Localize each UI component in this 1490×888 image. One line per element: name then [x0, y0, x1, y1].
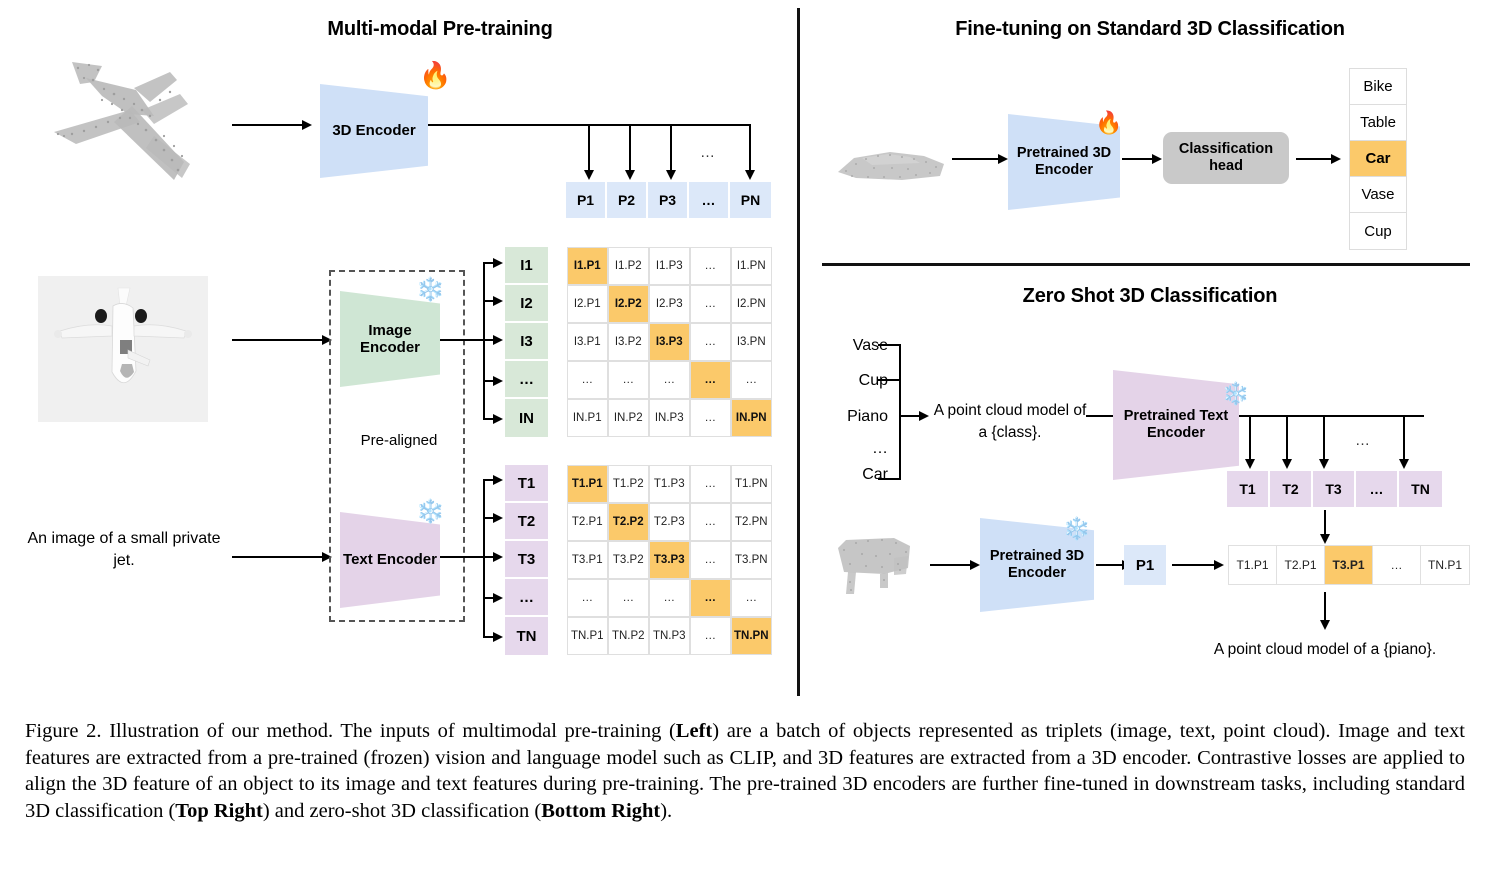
zeroshot-text-token[interactable]: T2: [1270, 471, 1313, 507]
image-token[interactable]: IN: [505, 399, 548, 437]
image-bus-stem: [440, 339, 485, 341]
similarity-cell: I2.P1: [567, 285, 609, 324]
point-token[interactable]: PN: [730, 182, 771, 218]
similarity-cell: I1.P1: [567, 247, 609, 286]
arrowhead-p1-scores: [1214, 560, 1224, 570]
arrow-p1-to-scores: [1172, 564, 1216, 566]
prompt-line-2: a {class}.: [932, 422, 1088, 444]
arrow-text-to-encoder: [232, 556, 324, 558]
similarity-cell: T3.P3: [649, 541, 691, 580]
arrow-scores-to-result: [1324, 592, 1326, 622]
similarity-cell: I3.P3: [649, 323, 691, 362]
similarity-cell: I3.P2: [608, 323, 650, 362]
encoder-image-label: Image Encoder: [340, 322, 440, 357]
arrowhead-head-classes: [1331, 154, 1341, 164]
similarity-cell: I2.P2: [608, 285, 650, 324]
similarity-cell: I3.P1: [567, 323, 609, 362]
arrowhead-p3: [666, 170, 676, 180]
airplane-point-cloud: [14, 44, 239, 204]
vertical-divider: [797, 8, 800, 696]
prompt-template-text: A point cloud model of a {class}.: [932, 400, 1088, 443]
point-token[interactable]: P2: [607, 182, 648, 218]
class-brace-spine: [899, 344, 901, 480]
similarity-cell: …: [690, 361, 732, 400]
similarity-cell: I2.PN: [731, 285, 773, 324]
similarity-cell: IN.P3: [649, 399, 691, 438]
similarity-cell: I1.PN: [731, 247, 773, 286]
similarity-cell: T2.P3: [649, 503, 691, 542]
similarity-cell: I1.P2: [608, 247, 650, 286]
similarity-cell: …: [690, 465, 732, 504]
arrow-image-to-encoder: [232, 339, 324, 341]
text-token[interactable]: T3: [505, 541, 548, 579]
similarity-cell: I2.P3: [649, 285, 691, 324]
zeroshot-class-name: Car: [836, 466, 888, 484]
arrowhead-i4: [493, 376, 503, 386]
left-panel-title: Multi-modal Pre-training: [240, 18, 640, 41]
class-item[interactable]: Table: [1350, 105, 1406, 141]
score-cell: T1.P1: [1229, 546, 1277, 584]
encoder-3d-label: 3D Encoder: [332, 122, 415, 139]
similarity-cell: T2.P1: [567, 503, 609, 542]
zeroshot-class-name: Piano: [827, 408, 888, 426]
arrowhead-scores-result: [1320, 620, 1330, 630]
classification-head[interactable]: Classification head: [1163, 132, 1289, 184]
drop-zs-t3: [1323, 415, 1325, 461]
arrowhead-t3: [493, 552, 503, 562]
snowflake-icon: ❄️: [1222, 383, 1249, 405]
class-item[interactable]: Cup: [1350, 213, 1406, 249]
arrowhead-p2: [625, 170, 635, 180]
ellipsis-zeroshot-text-bus: …: [1355, 432, 1370, 449]
arrowhead-pointcloud: [302, 120, 312, 130]
arrowhead-classes-prompt: [919, 411, 929, 421]
arrowhead-i2: [493, 296, 503, 306]
similarity-cell: T3.P1: [567, 541, 609, 580]
class-item[interactable]: Bike: [1350, 69, 1406, 105]
car-point-cloud: [832, 138, 952, 188]
similarity-cell: TN.P2: [608, 617, 650, 656]
snowflake-icon: ❄️: [416, 278, 445, 301]
drop-zs-t1: [1249, 415, 1251, 461]
arrowhead-in: [493, 414, 503, 424]
similarity-cell: …: [690, 617, 732, 656]
image-token[interactable]: I2: [505, 285, 548, 323]
similarity-cell: …: [731, 579, 773, 618]
score-cell-predicted: T3.P1: [1325, 546, 1373, 584]
similarity-cell: T3.PN: [731, 541, 773, 580]
text-token[interactable]: TN: [505, 617, 548, 655]
similarity-cell: T2.P2: [608, 503, 650, 542]
similarity-cell: …: [731, 361, 773, 400]
arrowhead-zs-t2: [1282, 459, 1292, 469]
class-brace-tick: [878, 379, 901, 381]
class-brace-tick: [878, 478, 901, 480]
similarity-cell: …: [690, 503, 732, 542]
pretrained-text-encoder[interactable]: Pretrained Text Encoder: [1113, 370, 1239, 480]
top-right-panel-title: Fine-tuning on Standard 3D Classificatio…: [900, 18, 1400, 41]
drop-zs-t2: [1286, 415, 1288, 461]
image-token[interactable]: …: [505, 361, 548, 399]
class-brace-tick: [878, 344, 901, 346]
similarity-cell: …: [690, 285, 732, 324]
similarity-cell: …: [608, 579, 650, 618]
pretrained-3d-encoder-label: Pretrained 3D Encoder: [1008, 145, 1120, 178]
score-cell: TN.P1: [1421, 546, 1469, 584]
drop-p2: [629, 124, 631, 172]
similarity-cell: …: [567, 361, 609, 400]
point-token[interactable]: P1: [566, 182, 607, 218]
image-token[interactable]: I3: [505, 323, 548, 361]
similarity-cell: …: [567, 579, 609, 618]
arrow-head-to-classes: [1296, 158, 1334, 160]
arrow-pointcloud-to-encoder: [232, 124, 304, 126]
zeroshot-point-token-label: P1: [1136, 557, 1154, 574]
similarity-cell: T1.P3: [649, 465, 691, 504]
text-token-column: T1 T2 T3 … TN: [505, 465, 548, 655]
fire-icon: 🔥: [419, 62, 451, 88]
zeroshot-text-token[interactable]: …: [1356, 471, 1399, 507]
drop-p3: [670, 124, 672, 172]
piano-point-cloud: [828, 530, 928, 602]
point-token-row: P1 P2 P3 … PN: [566, 182, 771, 218]
figure-canvas: Multi-modal Pre-training: [0, 0, 1490, 888]
encoder-3d[interactable]: 3D Encoder: [320, 84, 428, 178]
zeroshot-text-bus: [1239, 415, 1424, 417]
similarity-cell: T1.P2: [608, 465, 650, 504]
arrowhead-pn: [745, 170, 755, 180]
jet-render-thumbnail: [38, 276, 208, 422]
figure-caption: Figure 2. Illustration of our method. Th…: [25, 718, 1465, 825]
text-bus-stem: [440, 556, 485, 558]
arrowhead-t2: [493, 513, 503, 523]
encoder-text-label: Text Encoder: [343, 551, 437, 568]
zeroshot-text-token-row: T1 T2 T3 … TN: [1227, 471, 1442, 507]
arrowhead-zs-t1: [1245, 459, 1255, 469]
similarity-cell: I3.PN: [731, 323, 773, 362]
arrow-tokens-to-scores: [1324, 510, 1326, 536]
snowflake-icon: ❄️: [1063, 518, 1090, 540]
arrowhead-i1: [493, 258, 503, 268]
similarity-cell: …: [690, 541, 732, 580]
point-token[interactable]: …: [689, 182, 730, 218]
prompt-line-1: A point cloud model of: [932, 400, 1088, 422]
pretrained-3d-encoder-zs-label: Pretrained 3D Encoder: [980, 548, 1094, 581]
drop-p1: [588, 124, 590, 172]
similarity-cell: TN.P1: [567, 617, 609, 656]
image-point-similarity-matrix: I1.P1I1.P2I1.P3…I1.PNI2.P1I2.P2I2.P3…I2.…: [567, 247, 772, 437]
drop-zs-tn: [1403, 415, 1405, 461]
zeroshot-text-token[interactable]: T3: [1313, 471, 1356, 507]
class-prediction-list: BikeTableCarVaseCup: [1349, 68, 1407, 250]
similarity-cell: T1.PN: [731, 465, 773, 504]
zeroshot-text-token[interactable]: T1: [1227, 471, 1270, 507]
similarity-cell: TN.P3: [649, 617, 691, 656]
text-point-similarity-matrix: T1.P1T1.P2T1.P3…T1.PNT2.P1T2.P2T2.P3…T2.…: [567, 465, 772, 655]
pretrained-text-encoder-label: Pretrained Text Encoder: [1113, 408, 1239, 441]
arrow-encoder-to-p1: [1096, 564, 1124, 566]
arrowhead-p1: [584, 170, 594, 180]
text-token[interactable]: T1: [505, 465, 548, 503]
class-item[interactable]: Vase: [1350, 177, 1406, 213]
score-cell: …: [1373, 546, 1421, 584]
arrowhead-i3: [493, 335, 503, 345]
similarity-cell: IN.PN: [731, 399, 773, 438]
score-cell: T2.P1: [1277, 546, 1325, 584]
classification-head-label: Classification head: [1163, 141, 1289, 176]
snowflake-icon: ❄️: [416, 500, 445, 523]
arrow-classes-to-prompt: [899, 415, 921, 417]
similarity-cell: …: [690, 323, 732, 362]
arrow-encoder-to-head: [1122, 158, 1154, 160]
similarity-cell: …: [608, 361, 650, 400]
arrowhead-encoder-head: [1152, 154, 1162, 164]
zeroshot-class-name: …: [836, 440, 888, 458]
similarity-cell: TN.PN: [731, 617, 773, 656]
point-token[interactable]: P3: [648, 182, 689, 218]
zeroshot-text-token[interactable]: TN: [1399, 471, 1442, 507]
text-token[interactable]: T2: [505, 503, 548, 541]
pre-aligned-label: Pre-aligned: [344, 432, 454, 449]
similarity-cell: IN.P1: [567, 399, 609, 438]
similarity-cell: …: [690, 247, 732, 286]
arrowhead-zs-t3: [1319, 459, 1329, 469]
arrowhead-zs-tn: [1399, 459, 1409, 469]
arrowhead-tn: [493, 632, 503, 642]
similarity-cell: I1.P3: [649, 247, 691, 286]
image-token[interactable]: I1: [505, 247, 548, 285]
bottom-right-panel-title: Zero Shot 3D Classification: [950, 285, 1350, 308]
encoder-text[interactable]: Text Encoder: [340, 512, 440, 608]
arrowhead-t4: [493, 593, 503, 603]
fire-icon: 🔥: [1095, 112, 1122, 134]
arrow-car-to-encoder: [952, 158, 1000, 160]
arrowhead-t1: [493, 475, 503, 485]
class-item-predicted[interactable]: Car: [1350, 141, 1406, 177]
similarity-cell: T1.P1: [567, 465, 609, 504]
encoder-image[interactable]: Image Encoder: [340, 291, 440, 387]
ellipsis-point-bus: …: [700, 144, 715, 161]
arrow-piano-to-encoder: [930, 564, 972, 566]
similarity-cell: …: [649, 579, 691, 618]
arrowhead-tokens-scores: [1320, 534, 1330, 544]
zeroshot-result-text: A point cloud model of a {piano}.: [1190, 641, 1460, 659]
text-input-caption: An image of a small private jet.: [24, 528, 224, 571]
zeroshot-point-token[interactable]: P1: [1124, 545, 1166, 585]
arrowhead-car-encoder: [998, 154, 1008, 164]
similarity-cell: …: [690, 399, 732, 438]
text-token[interactable]: …: [505, 579, 548, 617]
zeroshot-score-row: T1.P1T2.P1T3.P1…TN.P1: [1228, 545, 1470, 585]
drop-pn: [749, 124, 751, 172]
similarity-cell: IN.P2: [608, 399, 650, 438]
similarity-cell: T2.PN: [731, 503, 773, 542]
similarity-cell: …: [649, 361, 691, 400]
similarity-cell: T3.P2: [608, 541, 650, 580]
horizontal-divider: [822, 263, 1470, 266]
image-token-column: I1 I2 I3 … IN: [505, 247, 548, 437]
similarity-cell: …: [690, 579, 732, 618]
arrowhead-piano-encoder: [970, 560, 980, 570]
